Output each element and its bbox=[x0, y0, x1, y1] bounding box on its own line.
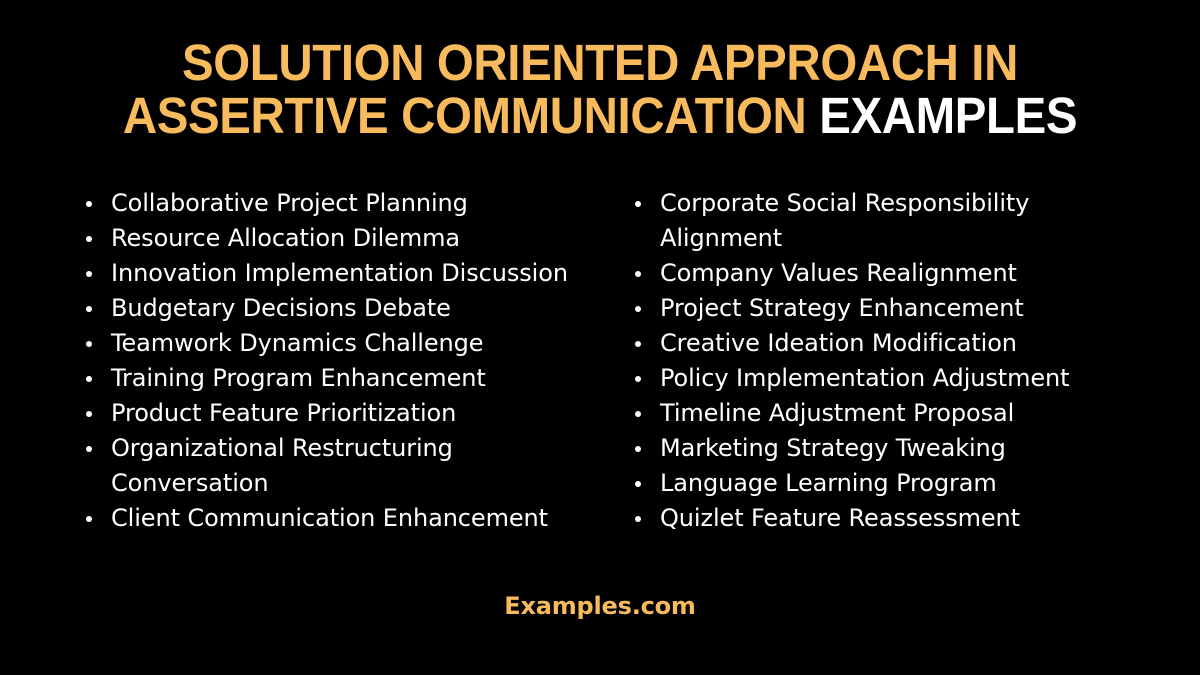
bullet-dot-icon bbox=[86, 236, 92, 242]
list-item: Policy Implementation Adjustment bbox=[622, 361, 1122, 396]
list-item-label: Marketing Strategy Tweaking bbox=[660, 434, 1006, 462]
bullet-dot-icon bbox=[86, 411, 92, 417]
bullet-dot-icon bbox=[86, 306, 92, 312]
title-line-2-plain: EXAMPLES bbox=[819, 87, 1077, 144]
list-item-label: Resource Allocation Dilemma bbox=[111, 224, 460, 252]
right-column: Corporate Social Responsibility Alignmen… bbox=[622, 186, 1122, 536]
bullet-dot-icon bbox=[86, 446, 92, 452]
list-item-label: Language Learning Program bbox=[660, 469, 997, 497]
list-item: Resource Allocation Dilemma bbox=[78, 221, 608, 256]
page-title: SOLUTION ORIENTED APPROACH IN ASSERTIVE … bbox=[50, 36, 1150, 142]
slide-canvas: SOLUTION ORIENTED APPROACH IN ASSERTIVE … bbox=[0, 0, 1200, 675]
list-item: Marketing Strategy Tweaking bbox=[622, 431, 1122, 466]
list-item-label: Timeline Adjustment Proposal bbox=[660, 399, 1014, 427]
list-item-label: Teamwork Dynamics Challenge bbox=[111, 329, 483, 357]
list-item-label: Organizational Restructuring Conversatio… bbox=[111, 434, 453, 497]
left-column: Collaborative Project Planning Resource … bbox=[78, 186, 608, 536]
bullet-dot-icon bbox=[635, 516, 641, 522]
title-line-2-accent: ASSERTIVE COMMUNICATION bbox=[123, 87, 807, 144]
bullet-dot-icon bbox=[86, 376, 92, 382]
title-line-2: ASSERTIVE COMMUNICATION EXAMPLES bbox=[89, 89, 1112, 142]
list-item-label: Collaborative Project Planning bbox=[111, 189, 468, 217]
list-item-label: Corporate Social Responsibility Alignmen… bbox=[660, 189, 1029, 252]
list-item: Teamwork Dynamics Challenge bbox=[78, 326, 608, 361]
bullet-dot-icon bbox=[635, 201, 641, 207]
list-item: Language Learning Program bbox=[622, 466, 1122, 501]
list-item: Corporate Social Responsibility Alignmen… bbox=[622, 186, 1122, 256]
bullet-dot-icon bbox=[86, 341, 92, 347]
list-item: Creative Ideation Modification bbox=[622, 326, 1122, 361]
examples-columns: Collaborative Project Planning Resource … bbox=[0, 186, 1200, 536]
list-item: Company Values Realignment bbox=[622, 256, 1122, 291]
bullet-dot-icon bbox=[635, 411, 641, 417]
list-item: Innovation Implementation Discussion bbox=[78, 256, 608, 291]
bullet-dot-icon bbox=[86, 271, 92, 277]
list-item: Quizlet Feature Reassessment bbox=[622, 501, 1122, 536]
bullet-dot-icon bbox=[86, 201, 92, 207]
list-item: Project Strategy Enhancement bbox=[622, 291, 1122, 326]
bullet-dot-icon bbox=[635, 376, 641, 382]
bullet-dot-icon bbox=[635, 341, 641, 347]
bullet-dot-icon bbox=[635, 306, 641, 312]
list-item-label: Budgetary Decisions Debate bbox=[111, 294, 451, 322]
bullet-dot-icon bbox=[635, 446, 641, 452]
list-item: Timeline Adjustment Proposal bbox=[622, 396, 1122, 431]
bullet-dot-icon bbox=[635, 481, 641, 487]
list-item-label: Product Feature Prioritization bbox=[111, 399, 456, 427]
list-item-label: Training Program Enhancement bbox=[111, 364, 486, 392]
right-example-list: Corporate Social Responsibility Alignmen… bbox=[622, 186, 1122, 536]
bullet-dot-icon bbox=[635, 271, 641, 277]
list-item: Product Feature Prioritization bbox=[78, 396, 608, 431]
list-item: Organizational Restructuring Conversatio… bbox=[78, 431, 608, 501]
list-item-label: Project Strategy Enhancement bbox=[660, 294, 1024, 322]
list-item-label: Quizlet Feature Reassessment bbox=[660, 504, 1020, 532]
list-item: Training Program Enhancement bbox=[78, 361, 608, 396]
site-logo[interactable]: Examples.com bbox=[504, 592, 696, 620]
footer: Examples.com bbox=[0, 592, 1200, 620]
left-example-list: Collaborative Project Planning Resource … bbox=[78, 186, 608, 536]
list-item-label: Policy Implementation Adjustment bbox=[660, 364, 1069, 392]
list-item: Client Communication Enhancement bbox=[78, 501, 608, 536]
list-item-label: Client Communication Enhancement bbox=[111, 504, 548, 532]
list-item-label: Innovation Implementation Discussion bbox=[111, 259, 568, 287]
bullet-dot-icon bbox=[86, 516, 92, 522]
list-item-label: Creative Ideation Modification bbox=[660, 329, 1017, 357]
list-item: Budgetary Decisions Debate bbox=[78, 291, 608, 326]
list-item-label: Company Values Realignment bbox=[660, 259, 1017, 287]
title-line-1: SOLUTION ORIENTED APPROACH IN bbox=[89, 36, 1112, 89]
list-item: Collaborative Project Planning bbox=[78, 186, 608, 221]
